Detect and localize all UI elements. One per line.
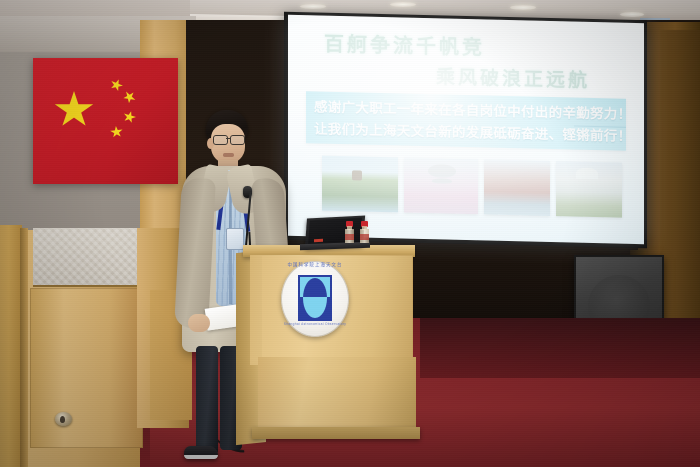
water-bottle: [345, 221, 354, 243]
projection-screen: 百舸争流千帆竞 乘风破浪正远航 感谢广大职工一年来在各自岗位中付出的辛勤努力！ …: [288, 15, 644, 244]
slide-photo-brick-building: [484, 159, 550, 216]
presenter-hand: [188, 314, 210, 332]
flag-star-small-icon: [121, 88, 139, 106]
water-bottle: [360, 221, 369, 243]
presenter-shoe-sole: [184, 455, 218, 459]
glasses-bridge: [226, 138, 230, 139]
emblem-text-english: Shanghai Astronomical Observatory: [283, 322, 347, 336]
emblem-circle-icon: [303, 278, 327, 318]
conference-hall-photo: 百舸争流千帆竞 乘风破浪正远航 感谢广大职工一年来在各自岗位中付出的辛勤努力！ …: [0, 0, 700, 467]
ceiling-light-icon: [300, 4, 326, 9]
slide-photo-dome-building: [556, 161, 622, 218]
flag-star-small-icon: [122, 109, 138, 124]
slide-calligraphy-line-2: 乘风破浪正远航: [436, 62, 590, 93]
bottle-label: [360, 234, 369, 240]
ceiling-light-icon: [510, 5, 536, 10]
laptop-logo-icon: [314, 239, 323, 242]
chinese-flag: [33, 58, 178, 184]
slide-calligraphy-line-1: 百舸争流千帆竞: [324, 28, 485, 61]
glasses-icon: [213, 135, 228, 145]
glasses-icon: [230, 135, 245, 145]
ceiling-light-icon: [620, 12, 644, 17]
door-textured-panel: [33, 228, 141, 287]
name-badge: [226, 228, 244, 250]
flag-star-small-icon: [108, 77, 125, 93]
door-wood-panel: [30, 288, 143, 448]
flag-star-large-icon: [54, 91, 94, 129]
door-keyhole-icon: [60, 416, 65, 423]
slide-photo-hill: [322, 156, 398, 213]
presenter-leg-left: [196, 346, 218, 454]
ceiling-light-icon: [390, 2, 416, 7]
door-frame-left: [0, 225, 22, 467]
podium-base: [258, 357, 416, 435]
carpet-shadow-right: [420, 318, 700, 378]
slide-photo-radio-telescope: [404, 158, 478, 215]
door-stile: [20, 228, 28, 467]
bottle-label: [345, 234, 354, 240]
podium-plinth: [252, 427, 420, 439]
flag-star-small-icon: [109, 125, 123, 138]
presenter-mouth: [223, 153, 234, 157]
